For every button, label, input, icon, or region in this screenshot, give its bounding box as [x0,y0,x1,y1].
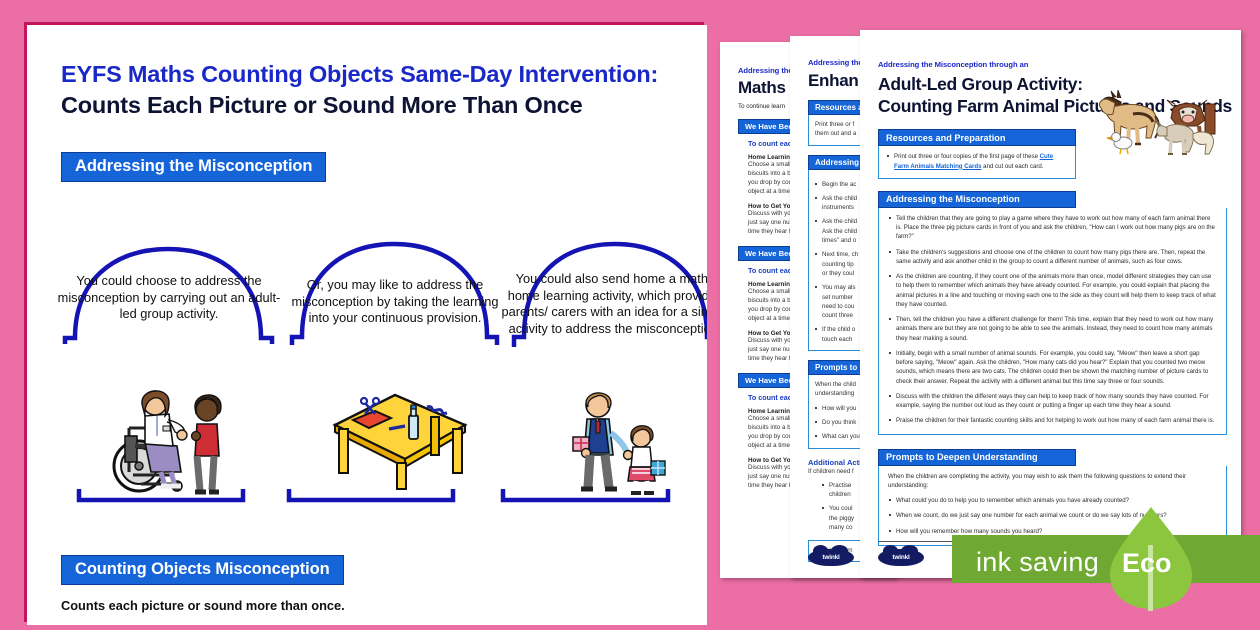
doc-c-addressing-bullet: Then, tell the children you have a diffe… [888,315,1217,343]
doc-c-addressing-box: Tell the children that they are going to… [878,208,1227,435]
twinkl-logo: twinkl [808,549,854,566]
doc-c-band-resources: Resources and Preparation [878,129,1076,146]
doc-c-prompt-bullet: What could you do to help you to remembe… [888,496,1217,505]
screenshot-stage: EYFS Maths Counting Objects Same-Day Int… [0,0,1260,630]
eco-badge-word: Eco [1122,548,1172,579]
doc-c-resources-text-post: and cut out each card. [981,163,1043,170]
addressing-band-row: Addressing the Misconception [61,152,679,182]
doc-c-addressing-bullet: Discuss with the children the different … [888,392,1217,411]
doc-c-resources-bullet: Print out three or four copies of the fi… [886,152,1068,171]
page-title-line2: Counts Each Picture or Sound More Than O… [61,91,679,120]
doc-c-addressing-bullet: Take the children's suggestions and choo… [888,248,1217,267]
document-adult-led-group-activity[interactable]: Addressing the Misconception through an … [860,30,1241,578]
doc-c-band-addressing: Addressing the Misconception [878,191,1076,208]
doc-c-prompts-intro: When the children are completing the act… [888,472,1217,491]
parent-and-child-walking-illustration [557,385,675,500]
counting-objects-misconception-band: Counting Objects Misconception [61,555,344,585]
twinkl-logo: twinkl [878,549,924,566]
arch-text-1: You could choose to address the misconce… [53,273,285,323]
doc-c-eyebrow: Addressing the Misconception through an [878,60,1225,69]
arches-zone: You could choose to address the misconce… [61,237,707,537]
poster-header: EYFS Maths Counting Objects Same-Day Int… [61,60,679,182]
misconception-description: Counts each picture or sound more than o… [61,598,677,613]
doc-c-addressing-bullet: Initially, begin with a small number of … [888,349,1217,386]
doc-c-addressing-bullet: As the children are counting, if they co… [888,272,1217,309]
arch-text-2: Or, you may like to address the misconce… [283,277,507,327]
ink-saving-eco-badge: ink saving Eco [952,523,1260,593]
twinkl-logo-text: twinkl [878,549,924,566]
doc-c-addressing-bullet: Praise the children for their fantastic … [888,416,1217,425]
activity-table-illustration [323,379,473,491]
main-poster-page: EYFS Maths Counting Objects Same-Day Int… [27,25,707,625]
doc-c-band-prompts: Prompts to Deepen Understanding [878,449,1076,466]
twinkl-logo-text: twinkl [808,549,854,566]
arch-bracket-rules [53,487,707,507]
adult-in-wheelchair-with-child-illustration [111,380,227,500]
addressing-misconception-band: Addressing the Misconception [61,152,326,182]
page-title-line1: EYFS Maths Counting Objects Same-Day Int… [61,60,679,89]
eco-badge-text: ink saving [976,547,1099,578]
doc-c-addressing-bullet: Tell the children that they are going to… [888,214,1217,242]
doc-c-resources-text-pre: Print out three or four copies of the fi… [894,153,1040,160]
counting-objects-misconception-block: Counting Objects Misconception Counts ea… [61,555,677,625]
arch-text-3: You could also send home a maths home le… [501,271,707,338]
farm-animals-illustration [1077,86,1227,158]
doc-c-resources-box: Print out three or four copies of the fi… [878,146,1076,179]
